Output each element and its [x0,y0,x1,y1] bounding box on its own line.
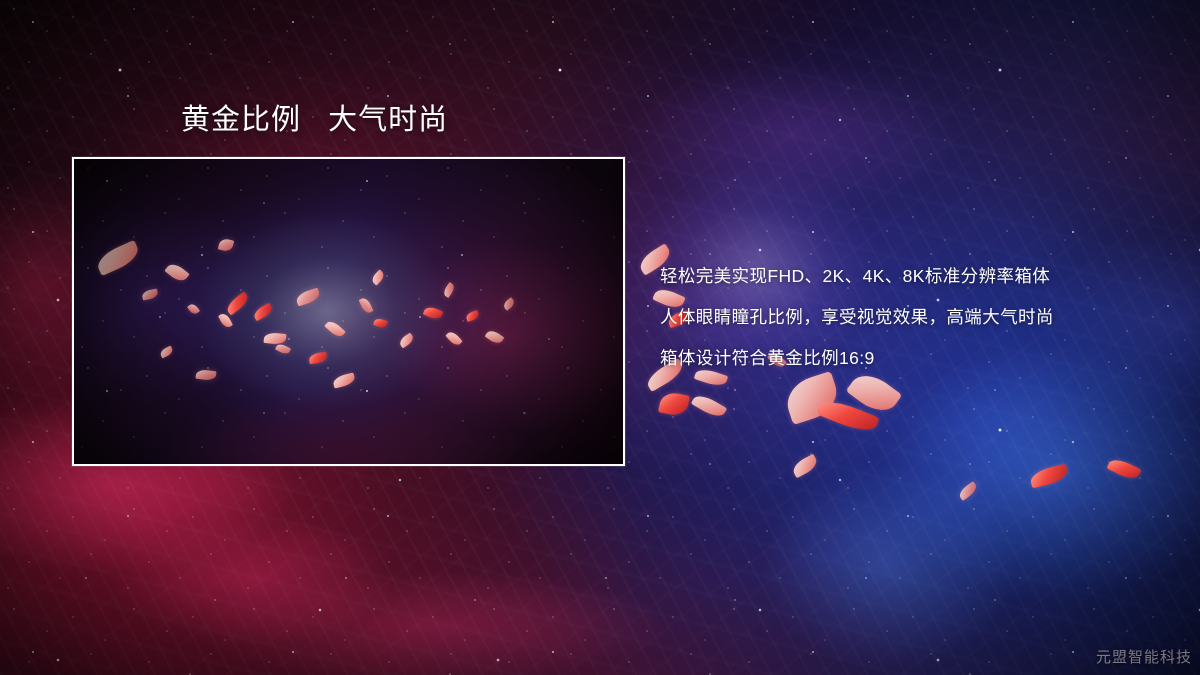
flower-petal [790,454,820,479]
flower-petal [781,371,843,425]
flower-petal [658,390,690,417]
body-copy-block: 轻松完美实现FHD、2K、4K、8K标准分辨率箱体 人体眼睛瞳孔比例，享受视觉效… [660,256,1170,379]
frame-vignette [74,159,623,464]
body-line-2: 人体眼睛瞳孔比例，享受视觉效果，高端大气时尚 [660,297,1170,338]
body-line-1: 轻松完美实现FHD、2K、4K、8K标准分辨率箱体 [660,256,1170,297]
body-line-3: 箱体设计符合黄金比例16:9 [660,338,1170,379]
framed-display-panel [72,157,625,466]
flower-petal [1107,456,1142,483]
flower-petal [691,391,727,420]
flower-petal [816,395,879,436]
slide-canvas: 黄金比例 大气时尚 轻松完美实现FHD、2K、4K、8K标准分辨率箱体 人体眼睛… [0,0,1200,675]
watermark: 元盟智能科技 [1096,646,1192,667]
flower-petal [957,481,979,501]
flower-petal [1029,464,1070,489]
frame-nebula-image [74,159,623,464]
page-title: 黄金比例 大气时尚 [181,103,448,138]
